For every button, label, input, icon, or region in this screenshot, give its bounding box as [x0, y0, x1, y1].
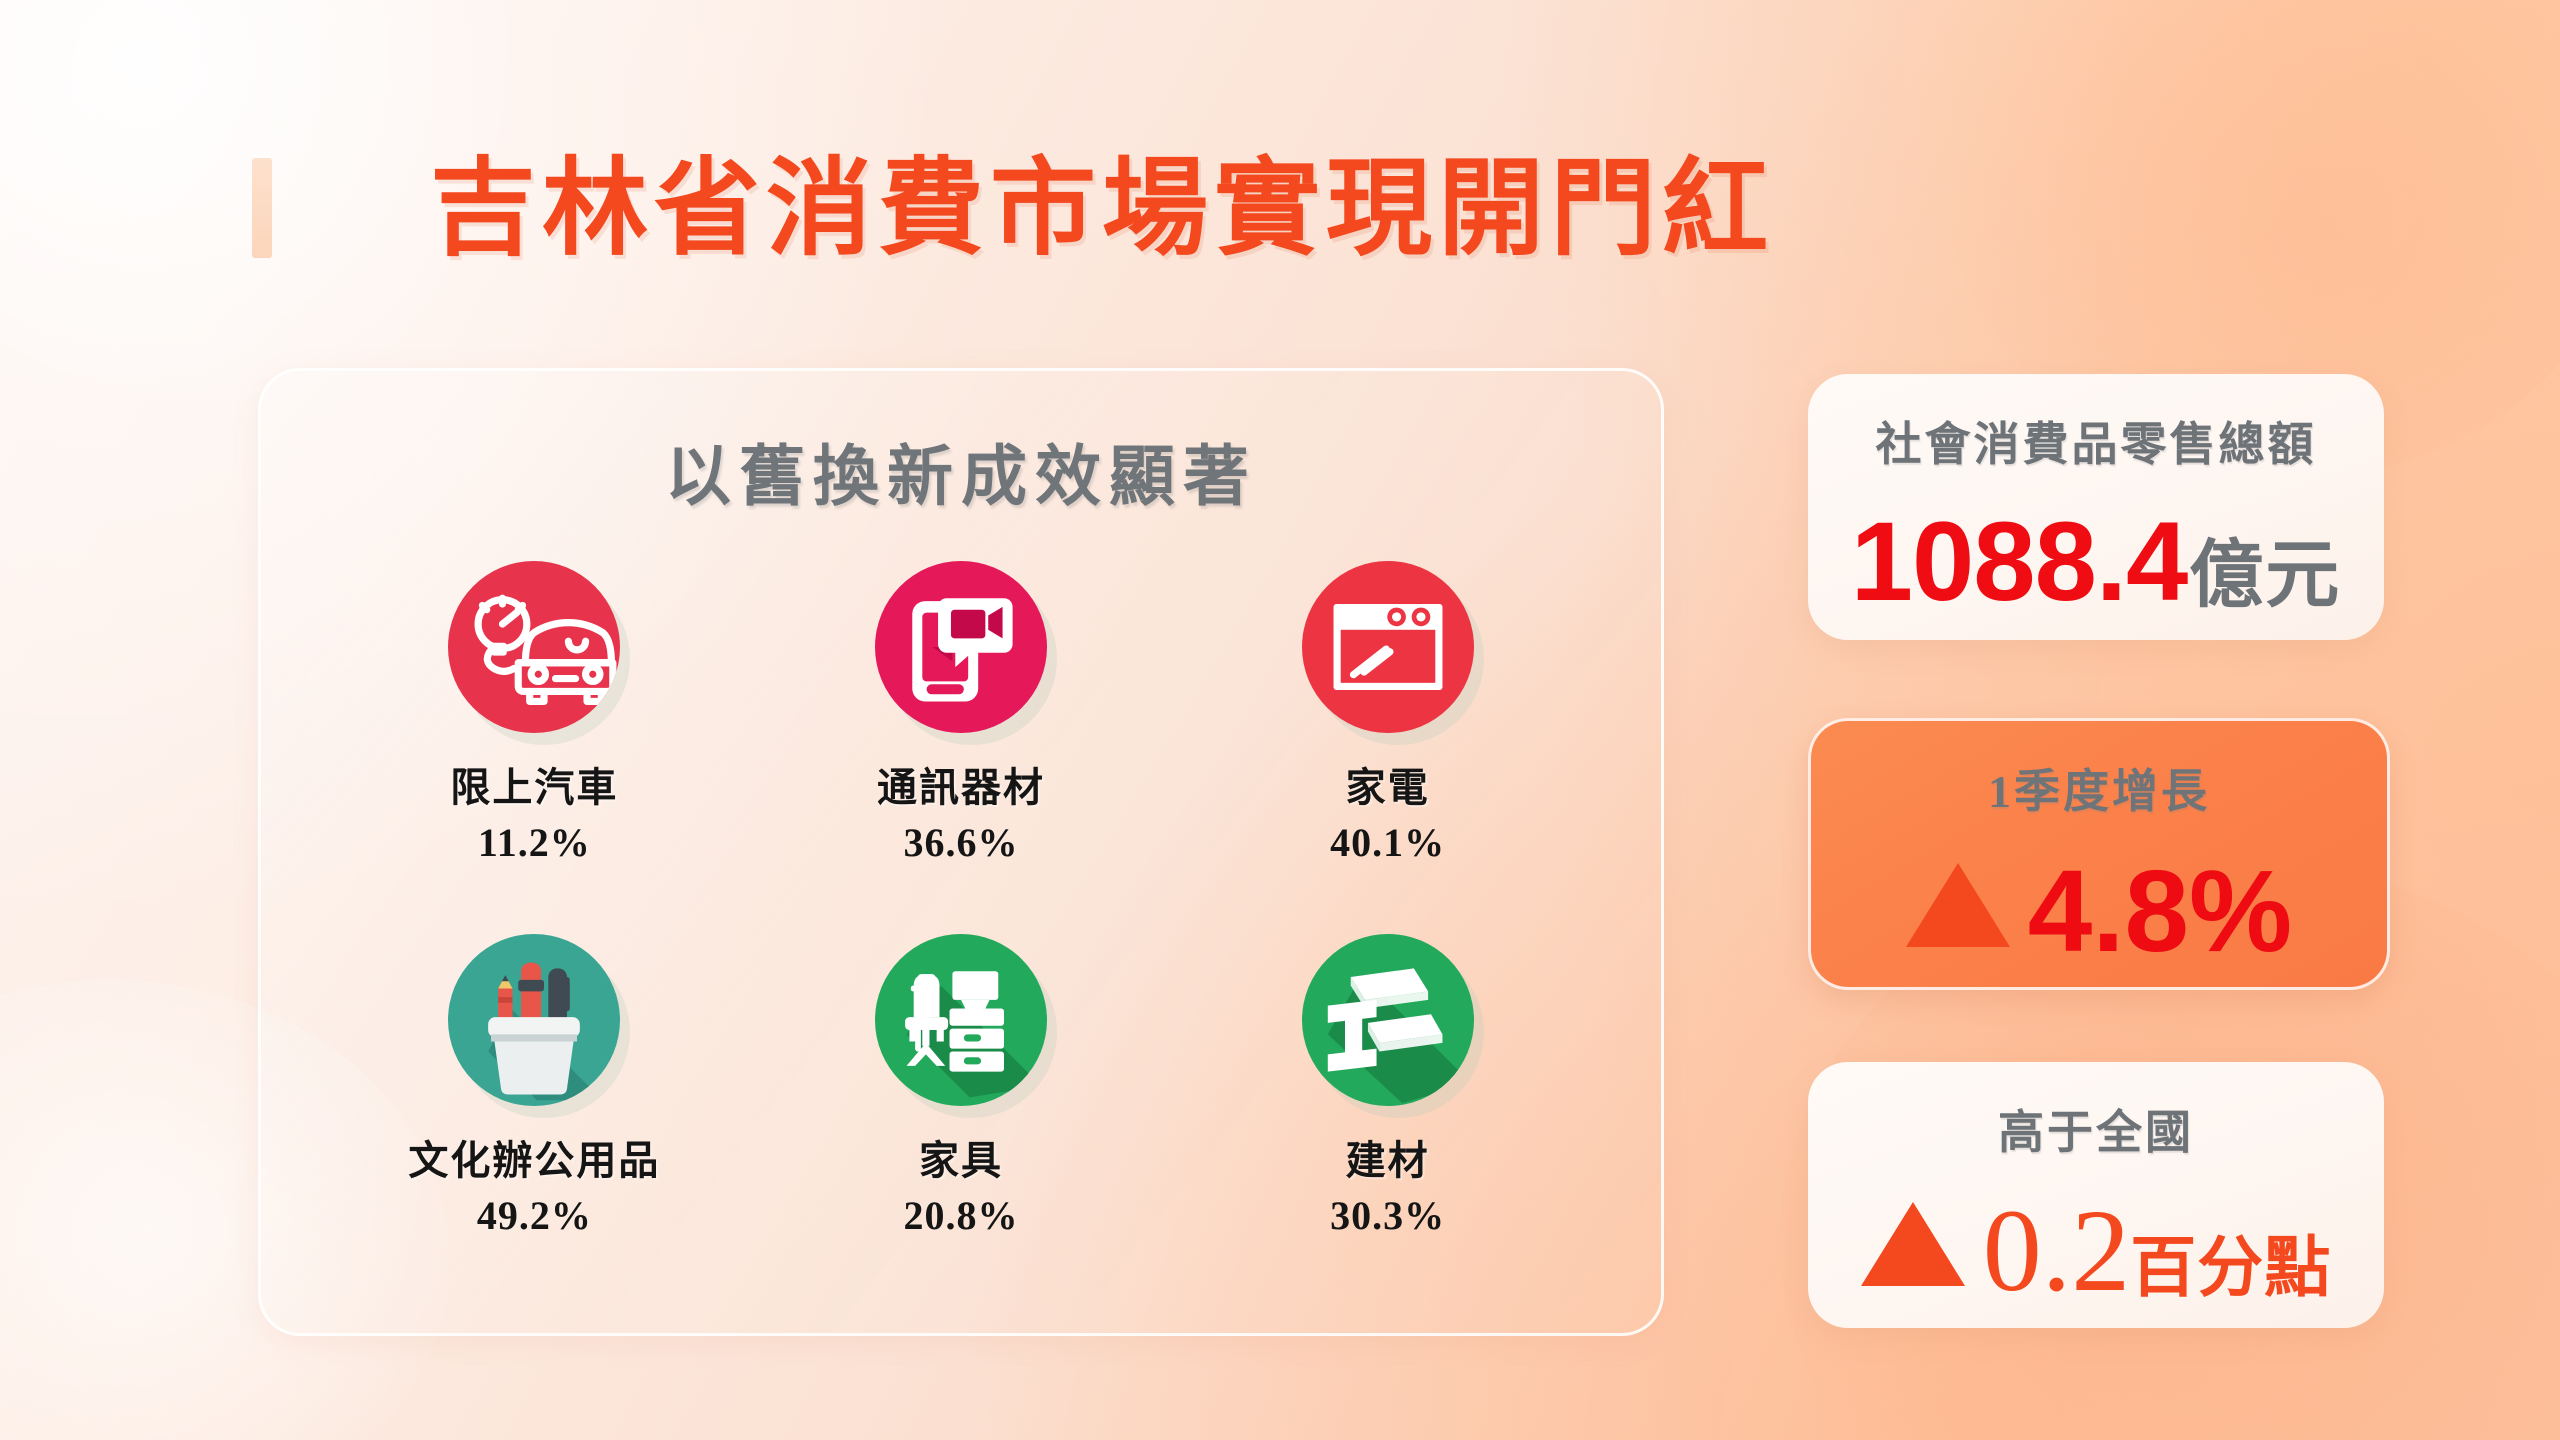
- category-value: 36.6%: [903, 819, 1018, 866]
- category-label: 限上汽車: [450, 755, 618, 813]
- category-item-building-materials[interactable]: 建材 30.3%: [1174, 934, 1601, 1239]
- oven-icon: [1302, 561, 1474, 733]
- up-triangle-icon: [1906, 863, 2010, 947]
- category-value: 49.2%: [477, 1192, 592, 1239]
- stat-card-body: 1088.4 億元: [1808, 506, 2384, 622]
- stat-card-unit: 億元: [2189, 515, 2341, 622]
- stat-card-body: 4.8%: [1811, 853, 2387, 969]
- category-value: 11.2%: [478, 819, 591, 866]
- stat-card-body: 0.2 百分點: [1808, 1192, 2384, 1310]
- category-label: 家具: [919, 1128, 1003, 1186]
- stat-card-q1-growth[interactable]: 1季度增長 4.8%: [1808, 718, 2390, 990]
- categories-panel: 以舊換新成效顯著: [258, 368, 1664, 1336]
- category-item-car[interactable]: 限上汽車 11.2%: [321, 561, 748, 866]
- category-value: 20.8%: [903, 1192, 1018, 1239]
- pen-holder-icon: [448, 934, 620, 1106]
- category-item-furniture[interactable]: 家具 20.8%: [748, 934, 1175, 1239]
- up-triangle-icon: [1861, 1202, 1965, 1286]
- page-title: 吉林省消費市場實現開門紅: [430, 122, 1774, 276]
- stat-card-number: 1088.4: [1851, 506, 2188, 618]
- category-item-office-supplies[interactable]: 文化辦公用品 49.2%: [321, 934, 748, 1239]
- stat-card-heading: 1季度增長: [1811, 755, 2387, 821]
- category-grid: 限上汽車 11.2%: [321, 561, 1601, 1239]
- category-value: 30.3%: [1330, 1192, 1445, 1239]
- stat-card-above-national[interactable]: 高于全國 0.2 百分點: [1808, 1062, 2384, 1328]
- title-accent-bar: [252, 158, 272, 258]
- category-label: 家電: [1346, 755, 1430, 813]
- panel-heading: 以舊換新成效顯著: [261, 423, 1661, 519]
- category-label: 建材: [1346, 1128, 1430, 1186]
- stat-card-retail-total[interactable]: 社會消費品零售總額 1088.4 億元: [1808, 374, 2384, 640]
- infographic-canvas: 吉林省消費市場實現開門紅 以舊換新成效顯著: [0, 0, 2560, 1440]
- stat-card-heading: 高于全國: [1808, 1096, 2384, 1162]
- stat-card-number: 0.2: [1983, 1192, 2131, 1310]
- car-icon: [448, 561, 620, 733]
- stat-card-heading: 社會消費品零售總額: [1808, 408, 2384, 474]
- office-desk-chair-icon: [875, 934, 1047, 1106]
- category-value: 40.1%: [1330, 819, 1445, 866]
- stat-card-number: 4.8%: [2028, 853, 2292, 969]
- stat-card-unit: 百分點: [2130, 1214, 2331, 1310]
- category-item-communication[interactable]: 通訊器材 36.6%: [748, 561, 1175, 866]
- steel-beam-icon: [1302, 934, 1474, 1106]
- category-label: 文化辦公用品: [408, 1128, 660, 1186]
- category-label: 通訊器材: [877, 755, 1045, 813]
- mobile-video-icon: [875, 561, 1047, 733]
- category-item-appliance[interactable]: 家電 40.1%: [1174, 561, 1601, 866]
